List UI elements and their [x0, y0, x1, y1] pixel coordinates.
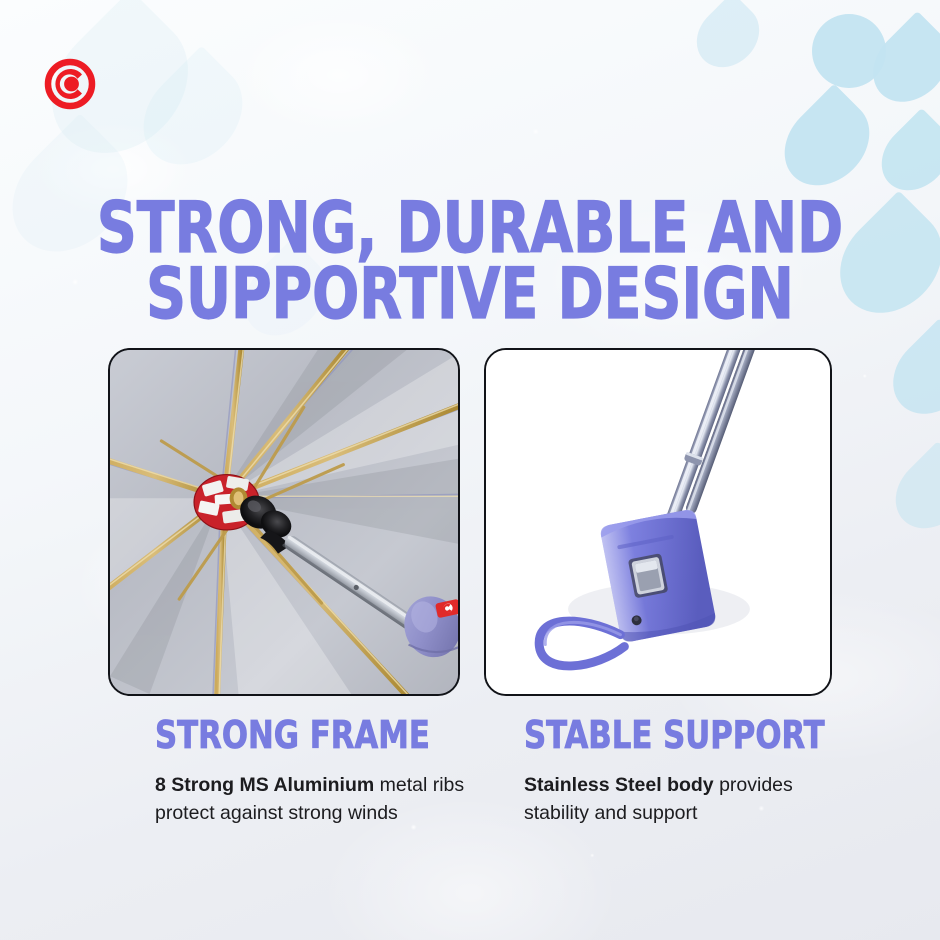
brand-logo	[44, 58, 96, 110]
feature-title-stable-support: STABLE SUPPORT	[524, 716, 866, 756]
water-droplet-icon	[812, 14, 886, 88]
water-droplet-icon	[881, 441, 940, 543]
water-droplet-icon	[768, 84, 887, 203]
page-title: STRONG, DURABLE AND SUPPORTIVE DESIGN	[56, 195, 883, 328]
feature-title-strong-frame: STRONG FRAME	[155, 716, 497, 756]
feature-body-strong-frame: 8 Strong MS Aluminium metal ribs protect…	[155, 772, 475, 827]
feature-image-strong-frame	[108, 348, 460, 696]
water-droplet-icon	[858, 11, 940, 117]
water-droplet-icon	[868, 108, 940, 204]
feature-body-bold-stable-support: Stainless Steel body	[524, 774, 714, 796]
circle-c-logo-icon	[44, 58, 96, 110]
water-droplet-icon	[124, 46, 263, 185]
feature-image-stable-support	[484, 348, 832, 696]
feature-caption-strong-frame: STRONG FRAME 8 Strong MS Aluminium metal…	[155, 716, 535, 827]
water-droplet-icon	[684, 0, 772, 80]
page-title-line-1: STRONG, DURABLE AND	[56, 195, 883, 262]
water-droplet-icon	[877, 318, 940, 430]
poster-canvas: STRONG, DURABLE AND SUPPORTIVE DESIGN	[0, 0, 940, 940]
feature-body-stable-support: Stainless Steel body provides stability …	[524, 772, 844, 827]
umbrella-frame-illustration	[110, 350, 458, 694]
feature-body-bold-strong-frame: 8 Strong MS Aluminium	[155, 774, 374, 796]
page-title-line-2: SUPPORTIVE DESIGN	[56, 261, 883, 328]
feature-caption-stable-support: STABLE SUPPORT Stainless Steel body prov…	[524, 716, 904, 827]
umbrella-handle-illustration	[486, 350, 830, 694]
